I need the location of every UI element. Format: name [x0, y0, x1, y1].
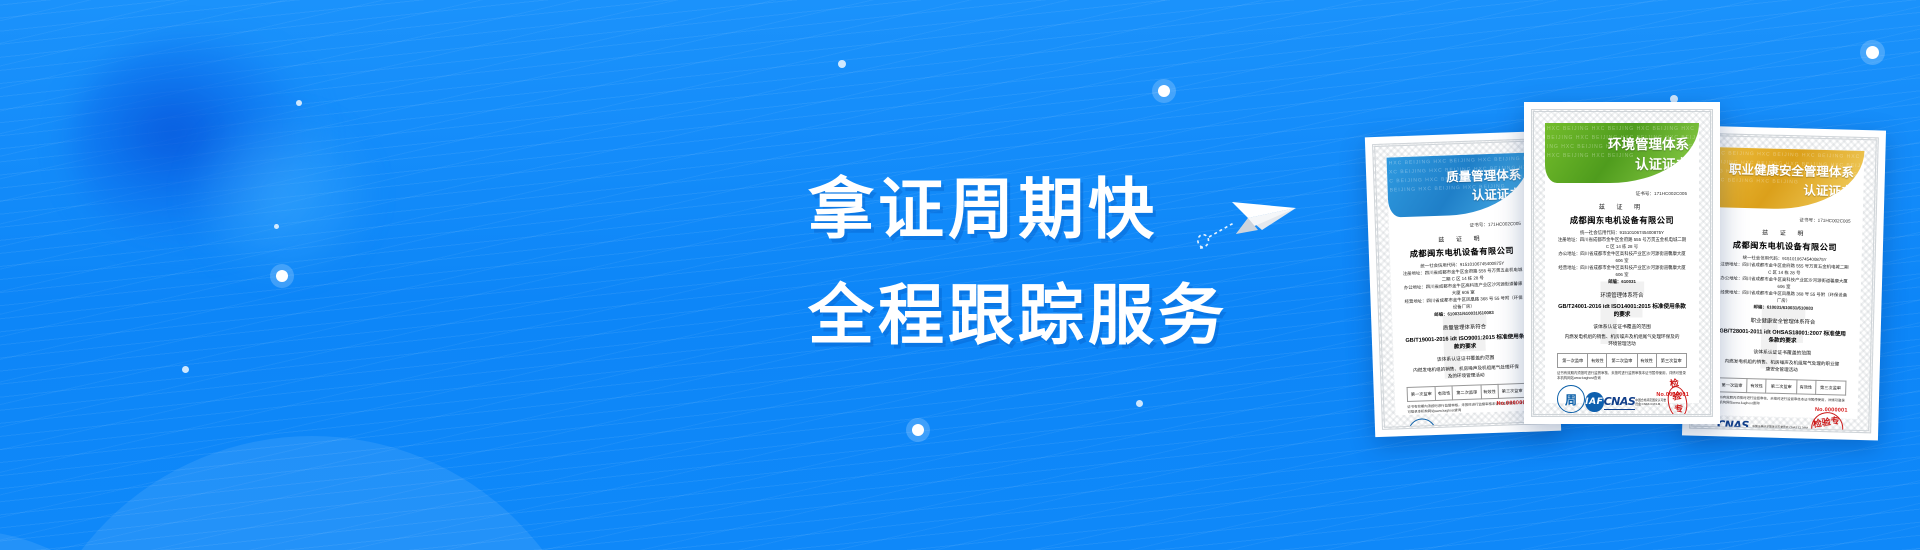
decor-dot-ring-1 — [276, 270, 288, 282]
glow-blob-light — [196, 120, 366, 270]
certificate-header-quality: HXC BEIJING HXC BEIJING HXC BEIJING HXC … — [1387, 153, 1533, 218]
certificate-header-environment: HXC BEIJING HXC BEIJING HXC BEIJING HXC … — [1545, 123, 1699, 183]
certificate-scope-text: 内燃发电机组的销售、机房噪声及机组尾气处理的职业健康安全管理活动 — [1723, 357, 1841, 374]
audit-cell: 第二次监审 — [1766, 379, 1797, 394]
certificate-postcode: 邮编：610031 — [1557, 278, 1687, 285]
certificate-standard: GB/T24001-2016 idt ISO14001:2015 标准使用条款的… — [1557, 302, 1687, 318]
certificate-credit-code: 统一社会信用代码：91510106745400875Y — [1557, 229, 1687, 236]
certificate-scope-label: 该体系认证证书覆盖的范围 — [1717, 347, 1847, 357]
cnas-logo: CNAS — [1717, 418, 1749, 434]
promo-banner: 拿证周期快 全程跟踪服务 HXC BEIJING HXC BEIJING HXC… — [0, 0, 1920, 550]
certificate-stack: HXC BEIJING HXC BEIJING HXC BEIJING HXC … — [1356, 86, 1920, 476]
certificate-scope-text: 内燃发电机组的销售、机房噪声及机组尾气处理环保及的环境管理活动 — [1412, 363, 1520, 381]
certificate-title-line2: 认证证书 — [1803, 179, 1853, 199]
cnas-logo: CNAS — [1458, 426, 1490, 430]
certificate-serial: No.0000001 — [1815, 407, 1848, 414]
certificate-logos: 周 中国认证 IAF CNAS 中国合格评定国家认可委员会 CNAS C174-… — [1557, 385, 1687, 417]
decor-circle-a — [22, 436, 602, 550]
certificate-address-3: 经营地址：四川省成都市金牛区高科技产业区沙河源街道馨康大厦 606 室 — [1557, 264, 1687, 278]
iaf-logo: IAF — [1585, 392, 1604, 412]
decor-dot-ring-6 — [1158, 85, 1170, 97]
certificate-scope-label: 该体系认证证书覆盖的范围 — [1557, 323, 1687, 330]
audit-cell: 第一次监审 — [1407, 387, 1436, 402]
china-certification-logo: 周 — [1557, 385, 1585, 413]
certificate-standard: GB/T19001-2016 idt ISO9001:2015 标准使用条款的要… — [1405, 332, 1525, 352]
audit-cell: 第一次监审 — [1717, 378, 1748, 393]
certificate-scope-label: 该体系认证证书覆盖的范围 — [1406, 353, 1526, 364]
audit-cell: 第三次监审 — [1498, 383, 1527, 398]
headline: 拿证周期快 全程跟踪服务 — [808, 165, 1228, 361]
audit-cell: 有效性 — [1747, 379, 1766, 393]
certificate-serial: No.0000001 — [1656, 392, 1689, 398]
certificate-zhengming: 兹 证 明 — [1401, 232, 1521, 245]
cnas-caption: 中国合格评定国家认可委员会 CNAS C174-M — [1490, 428, 1529, 430]
certificate-company: 成都闽东电机设备有限公司 — [1720, 238, 1850, 253]
certificate-number: 证书号：171HC002C005 — [1557, 191, 1687, 197]
certificate-system-label: 环境管理体系符合 — [1557, 291, 1687, 299]
china-certification-logo: 周 — [1408, 418, 1437, 430]
certificate-title-line1: 环境管理体系 — [1608, 133, 1689, 153]
iaf-logo: IAF — [1436, 424, 1459, 430]
certificate-audit-table: 第一次监审 有效性 第二次监审 有效性 第三次监审 — [1716, 377, 1846, 395]
certificate-scope-text: 内燃发电机组的销售、机房噪声及机组尾气处理环保及的环境管理活动 — [1563, 333, 1681, 347]
certificate-company: 成都闽东电机设备有限公司 — [1402, 244, 1522, 260]
audit-cell: 第一次监审 — [1558, 354, 1588, 368]
certificate-environment[interactable]: HXC BEIJING HXC BEIJING HXC BEIJING HXC … — [1524, 102, 1720, 424]
headline-line-2: 全程跟踪服务 — [808, 271, 1228, 361]
decor-dot-2 — [274, 224, 279, 229]
paper-plane-icon — [1192, 186, 1304, 258]
cnas-logo: CNAS — [1604, 395, 1636, 410]
audit-cell: 第二次监审 — [1607, 354, 1637, 368]
decor-dot-5 — [1136, 400, 1143, 407]
certificate-standard: GB/T28001-2011 idt OHSAS18001:2007 标准使用条… — [1717, 326, 1847, 345]
certificate-address-1: 注册地址：四川省成都市金牛区金府路 555 号万贯五金机电城二期 C 区 14 … — [1557, 236, 1687, 250]
china-certification-caption: 中国认证 — [1557, 414, 1585, 417]
audit-cell: 有效性 — [1588, 354, 1607, 368]
certificate-title-line1: 职业健康安全管理体系 — [1729, 159, 1854, 181]
certificate-address-2: 办公地址：四川省成都市金牛区高科技产业区沙河源街道馨康大厦 606 室 — [1557, 250, 1687, 264]
decor-dot-ring-9 — [1866, 46, 1879, 59]
audit-cell: 有效性 — [1435, 386, 1453, 401]
certificate-header-safety: HXC BEIJING HXC BEIJING HXC BEIJING HXC … — [1709, 147, 1865, 211]
cnas-caption: 中国合格评定国家认可委员会 CNAS C174-M — [1752, 424, 1808, 429]
certificate-audit-table: 第一次监审 有效性 第二次监审 有效性 第三次监审 — [1557, 353, 1687, 368]
certificate-title-line2: 认证证书 — [1635, 153, 1689, 173]
decor-dot-ring-4 — [912, 424, 924, 436]
audit-cell: 第三次监审 — [1656, 354, 1686, 368]
decor-circle-b — [0, 530, 172, 550]
certificate-zhengming: 兹 证 明 — [1720, 226, 1850, 238]
audit-cell: 有效性 — [1796, 380, 1815, 394]
audit-cell: 第二次监审 — [1452, 385, 1481, 400]
certificate-number: 证书号：171HC002C005 — [1401, 221, 1521, 231]
headline-line-1: 拿证周期快 — [808, 165, 1228, 255]
decor-dot-3 — [182, 366, 189, 373]
audit-cell: 有效性 — [1637, 354, 1656, 368]
decor-dot-10 — [296, 100, 302, 106]
cnas-caption: 中国合格评定国家认可委员会 CNAS C174-M — [1635, 398, 1667, 406]
decor-dot-7 — [838, 60, 846, 68]
certificate-logos: 周 中国认证 IAF CNAS 中国合格评定国家认可委员会 CNAS C174-… — [1408, 415, 1529, 430]
certificate-company: 成都闽东电机设备有限公司 — [1557, 214, 1687, 226]
audit-cell: 有效性 — [1481, 384, 1499, 399]
certificate-system-label: 质量管理体系符合 — [1404, 321, 1524, 333]
audit-cell: 第三次监审 — [1815, 380, 1846, 395]
certificate-number: 证书号：171HC002C005 — [1721, 215, 1851, 224]
official-seal: 检验专用 — [1665, 385, 1690, 417]
certificate-zhengming: 兹 证 明 — [1557, 202, 1687, 211]
certificate-title-line2: 认证证书 — [1472, 183, 1523, 204]
certificate-system-label: 职业健康安全管理体系符合 — [1718, 315, 1848, 326]
certificate-audit-table: 第一次监审 有效性 第二次监审 有效性 第三次监审 — [1407, 383, 1527, 402]
